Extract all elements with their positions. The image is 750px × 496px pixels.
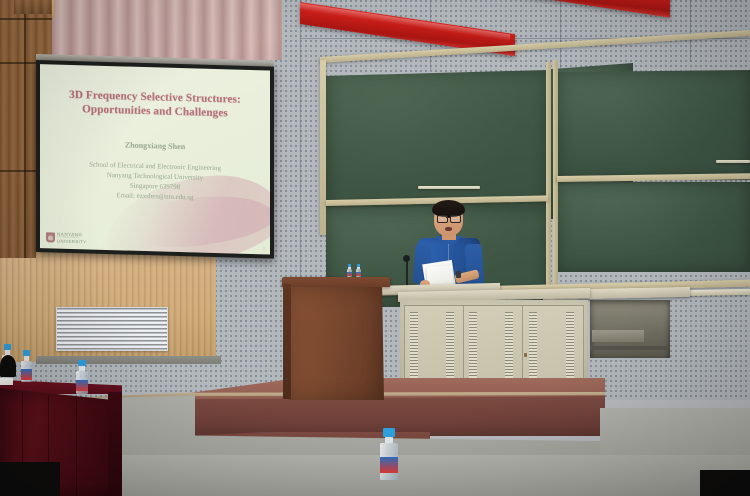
bottle-label <box>356 272 361 276</box>
chalk-tray-right <box>716 160 750 163</box>
hvac-grille-icon <box>56 307 168 351</box>
bottle-label <box>21 369 32 380</box>
projection-screen: 3D Frequency Selective Structures: Oppor… <box>36 60 274 259</box>
wood-wall-seam <box>0 18 52 20</box>
head-table-side <box>108 392 122 496</box>
alcove-drawer-rail <box>590 346 668 350</box>
foreground-chair-silhouette-2 <box>700 470 750 496</box>
water-bottle[interactable] <box>76 360 88 394</box>
wall-baseboard <box>36 356 221 364</box>
podium-top-surface <box>282 277 390 287</box>
bottle-cap <box>383 428 396 437</box>
paper-on-table <box>0 378 13 385</box>
foreground-chair-silhouette <box>0 462 60 496</box>
wood-panel-wall-upper <box>14 0 52 14</box>
ntu-crest-icon <box>46 233 55 243</box>
ntu-logo: NANYANG TECHNOLOGICAL UNIVERSITY <box>46 232 86 244</box>
microphone-head <box>403 255 410 262</box>
water-bottle[interactable] <box>356 264 361 277</box>
podium-side-panel <box>283 284 291 399</box>
slide-author-name: Zhongxiang Shen <box>125 140 186 151</box>
slide-title: 3D Frequency Selective Structures: Oppor… <box>69 89 241 122</box>
lecture-hall-photo: 3D Frequency Selective Structures: Oppor… <box>0 0 750 496</box>
podium-body <box>288 287 384 400</box>
presentation-slide: 3D Frequency Selective Structures: Oppor… <box>40 64 270 254</box>
chalk-tray-left <box>418 186 480 189</box>
slide-page-number: 1 <box>263 245 265 250</box>
chalkboard-panel-upper-right <box>557 70 750 180</box>
table-skirt-fold <box>76 398 77 496</box>
microphone-stem <box>406 258 408 288</box>
water-bottle[interactable] <box>380 428 398 480</box>
bottle-body <box>380 443 398 480</box>
wall-seam <box>690 0 691 62</box>
slide-affiliation: School of Electrical and Electronic Engi… <box>89 160 221 204</box>
chalkboard-panel-lower-right <box>557 182 750 272</box>
speaker-mouth <box>445 227 452 231</box>
bottle-body <box>21 361 32 382</box>
bottle-label <box>380 457 398 473</box>
ntu-logo-line-3: UNIVERSITY <box>57 239 86 244</box>
chalkboard-rail-vertical <box>546 62 551 298</box>
alcove-shelf <box>592 330 644 342</box>
bottle-body <box>76 371 88 394</box>
speaker-eyeglasses-right <box>450 215 461 223</box>
window-curtain <box>52 0 282 60</box>
wall-seam <box>300 0 301 300</box>
bottle-body <box>347 269 352 277</box>
speaker-eyeglasses-bridge <box>446 217 450 218</box>
dark-object-on-table <box>0 355 16 377</box>
speaker-wristwatch <box>456 271 461 278</box>
bottle-label <box>347 272 352 276</box>
bottle-label <box>76 380 88 391</box>
cabinet-lock-knob[interactable] <box>524 353 527 357</box>
water-bottle[interactable] <box>21 350 32 382</box>
bottle-body <box>356 269 361 277</box>
water-bottle[interactable] <box>347 264 352 277</box>
wall-seam <box>560 0 561 70</box>
